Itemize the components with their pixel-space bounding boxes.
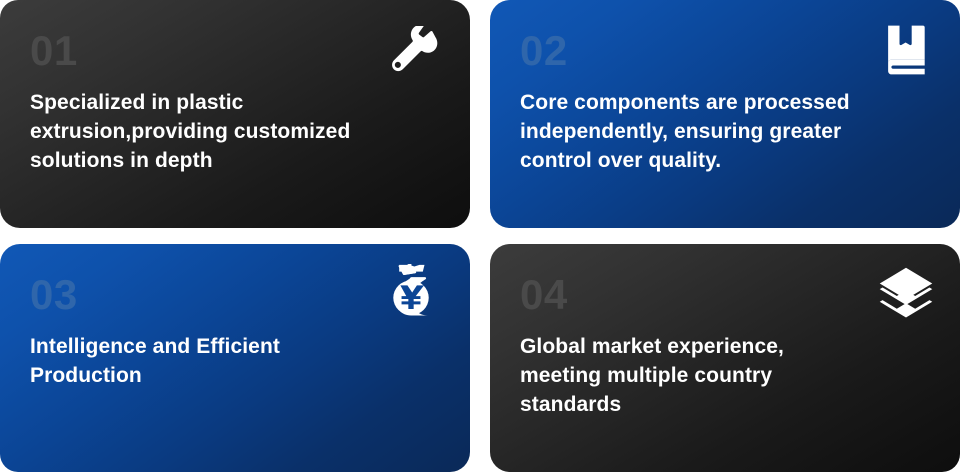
wrench-icon (390, 26, 440, 76)
card-description: Core components are processed independen… (520, 88, 934, 175)
card-number: 01 (30, 30, 444, 72)
money-bag-yen-icon (384, 264, 438, 318)
feature-cards-grid: 01 Specialized in plastic extrusion,prov… (0, 0, 960, 459)
feature-card-03[interactable]: 03 Intelligence and Efficient Production (0, 244, 470, 472)
card-number: 03 (30, 274, 444, 316)
card-number: 02 (520, 30, 934, 72)
card-description: Intelligence and Efficient Production (30, 332, 444, 390)
book-bookmark-icon (880, 24, 932, 76)
layers-stack-icon (878, 266, 934, 322)
feature-card-02[interactable]: 02 Core components are processed indepen… (490, 0, 960, 228)
card-number: 04 (520, 274, 934, 316)
card-description: Global market experience, meeting multip… (520, 332, 934, 419)
card-description: Specialized in plastic extrusion,providi… (30, 88, 444, 175)
feature-card-01[interactable]: 01 Specialized in plastic extrusion,prov… (0, 0, 470, 228)
feature-card-04[interactable]: 04 Global market experience, meeting mul… (490, 244, 960, 472)
